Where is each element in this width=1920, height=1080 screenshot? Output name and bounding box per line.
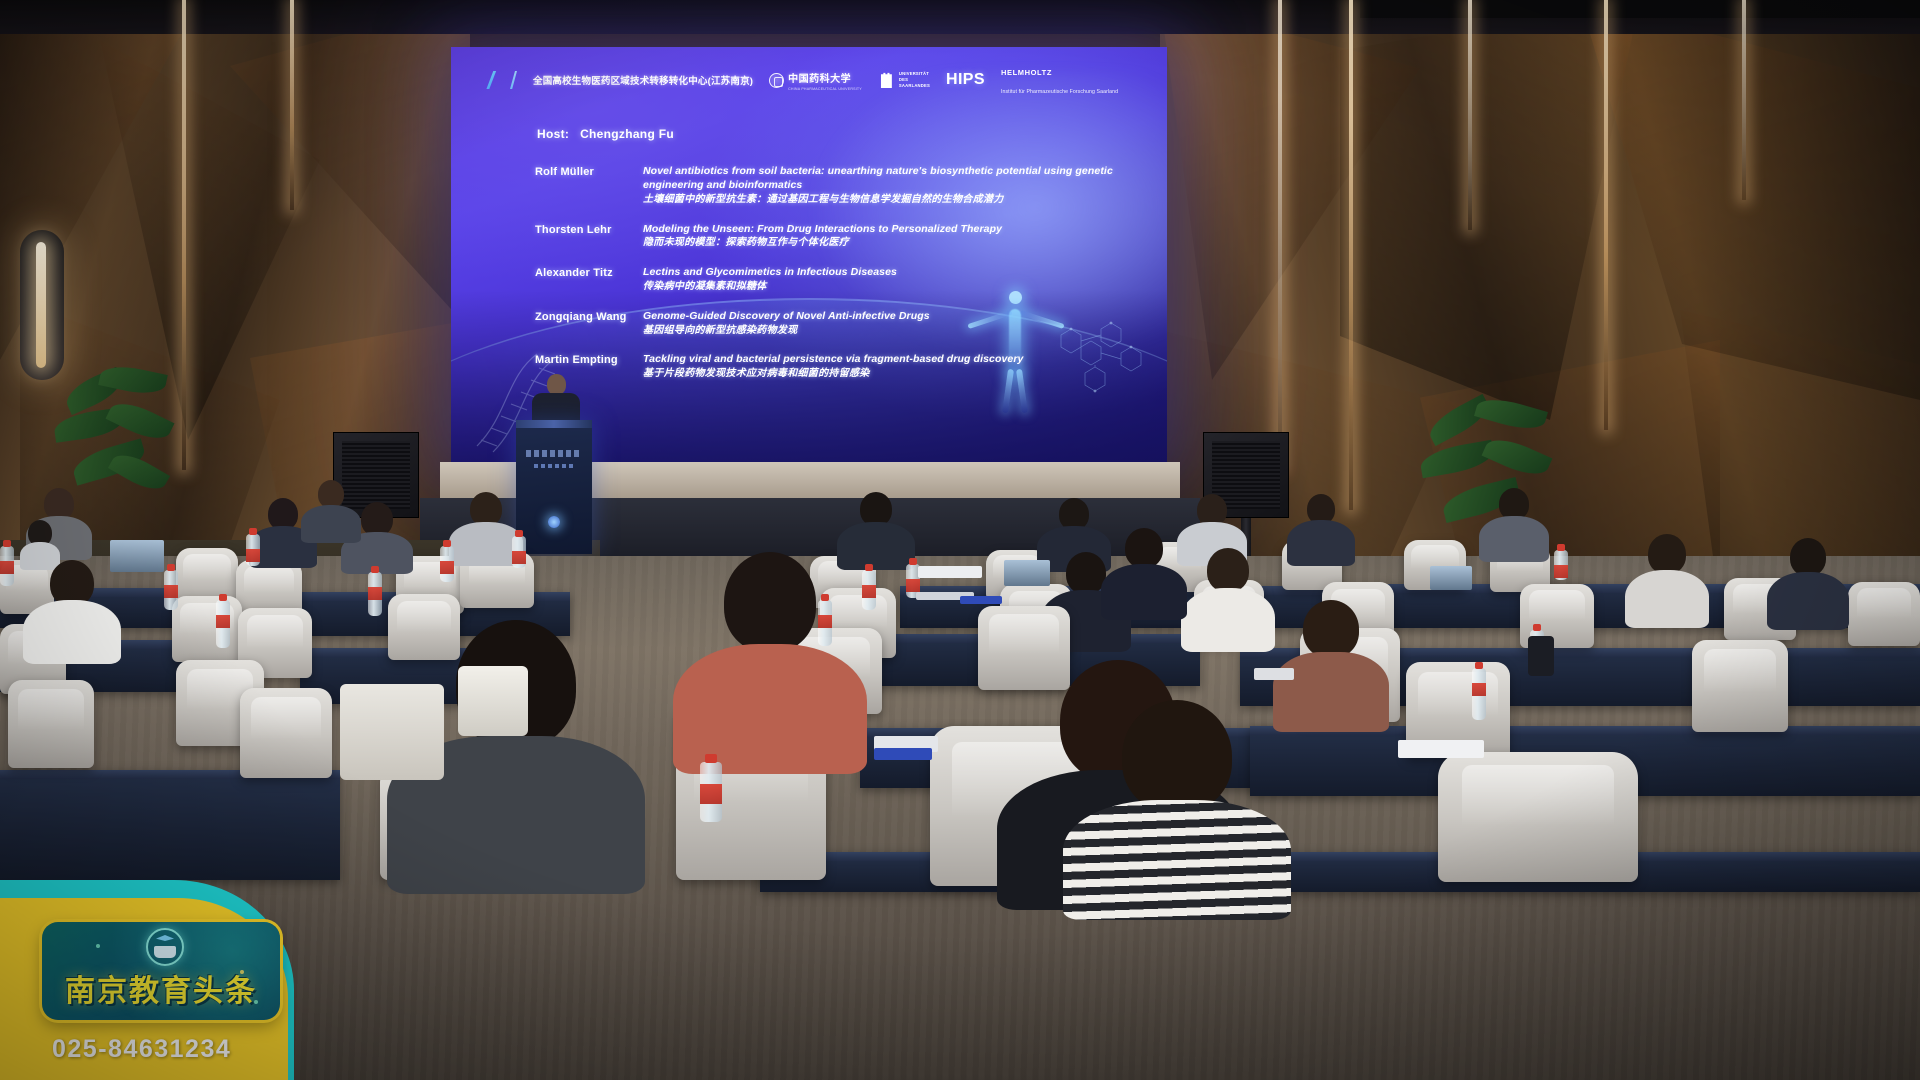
water-bottle — [862, 570, 876, 610]
graduation-book-emblem-icon — [146, 928, 184, 966]
speaker-title-cn: 隐而未现的模型：探索药物互作与个体化医疗 — [643, 236, 1149, 250]
cpu-seal-icon — [769, 73, 784, 88]
document-on-table — [1398, 740, 1484, 758]
water-bottle — [818, 600, 832, 646]
speaker-row: Thorsten Lehr Modeling the Unseen: From … — [535, 223, 1149, 251]
speaker-schedule-list: Rolf Müller Novel antibiotics from soil … — [535, 165, 1149, 397]
audience-chair — [172, 596, 242, 662]
audience-person — [22, 560, 122, 660]
audience-chair — [240, 688, 332, 778]
audience-person — [1624, 534, 1710, 624]
center-logo-icon — [485, 71, 503, 89]
water-bottle — [246, 534, 260, 566]
water-bottle — [1472, 668, 1486, 720]
saarland-crest-icon — [878, 71, 895, 88]
conference-hall-scene: 全国高校生物医药区域技术转移转化中心(江苏南京) 中国药科大学 CHINA PH… — [0, 0, 1920, 1080]
audience-person — [1766, 538, 1850, 626]
speaker-name: Rolf Müller — [535, 165, 643, 207]
document-on-table — [874, 748, 932, 760]
ceiling-right-band — [1360, 0, 1920, 18]
watermark-title: 南京教育头条 — [42, 966, 280, 1010]
presenter-at-podium — [532, 374, 580, 426]
cpu-name-en: CHINA PHARMACEUTICAL UNIVERSITY — [788, 87, 862, 91]
helmholtz-logo: HELMHOLTZ Institut für Pharmazeutische F… — [1001, 62, 1118, 98]
hips-wordmark: HIPS — [946, 71, 985, 89]
speaker-row: Rolf Müller Novel antibiotics from soil … — [535, 165, 1149, 207]
water-bottle — [0, 546, 14, 586]
laptop — [1430, 566, 1472, 590]
tote-bag — [340, 684, 444, 780]
helmholtz-institute-line: Institut für Pharmazeutische Forschung S… — [1001, 89, 1118, 95]
document-on-table — [1254, 668, 1294, 680]
saarland-logo: UNIVERSITÄT DES SAARLANDES — [878, 71, 930, 90]
water-bottle — [164, 570, 178, 610]
audience-person — [1286, 494, 1356, 564]
saarland-line3: SAARLANDES — [899, 83, 930, 88]
speaker-title-en: Modeling the Unseen: From Drug Interacti… — [643, 223, 1149, 237]
screen-logo-row: 全国高校生物医药区域技术转移转化中心(江苏南京) 中国药科大学 CHINA PH… — [485, 65, 1139, 95]
water-bottle — [216, 600, 230, 648]
center-logo-icon-accent — [507, 71, 517, 89]
audience-chair — [1438, 752, 1638, 882]
speaker-title-en: Novel antibiotics from soil bacteria: un… — [643, 165, 1149, 193]
cpu-logo: 中国药科大学 CHINA PHARMACEUTICAL UNIVERSITY — [769, 69, 862, 91]
helmholtz-wordmark: HELMHOLTZ — [1001, 68, 1052, 77]
tote-bag — [458, 666, 528, 736]
neon-strip — [1278, 0, 1282, 470]
neon-strip — [1742, 0, 1746, 200]
channel-watermark: 南京教育头条 025-84631234 — [0, 850, 300, 1080]
water-bottle — [1554, 550, 1568, 580]
watermark-phone-number: 025-84631234 — [52, 1035, 231, 1064]
podium-emblem-icon — [548, 516, 560, 528]
water-bottle — [512, 536, 526, 568]
audience-person — [1180, 548, 1276, 648]
laptop — [1004, 560, 1050, 586]
podium-signage-line1 — [526, 450, 582, 457]
audience-chair — [1848, 582, 1920, 646]
speaker-row: Martin Empting Tackling viral and bacter… — [535, 353, 1149, 381]
audience-person-foreground — [1272, 600, 1390, 724]
speaker-title-en: Genome-Guided Discovery of Novel Anti-in… — [643, 310, 1149, 324]
audience-person — [1478, 488, 1550, 560]
speaker-name: Thorsten Lehr — [535, 223, 643, 251]
laptop — [110, 540, 164, 572]
audience-person-foreground — [1062, 700, 1292, 888]
speaker-name: Zongqiang Wang — [535, 310, 643, 338]
audience-chair — [8, 680, 94, 768]
document-on-table — [918, 566, 982, 578]
speaker-title-en: Lectins and Glycomimetics in Infectious … — [643, 266, 1149, 280]
saarland-line1: UNIVERSITÄT — [899, 71, 929, 76]
host-line: Host: Chengzhang Fu — [537, 127, 674, 141]
speaker-title-cn: 基于片段药物发现技术应对病毒和细菌的持留感染 — [643, 367, 1149, 381]
watermark-card: 南京教育头条 — [42, 922, 280, 1020]
neon-strip — [1604, 0, 1608, 430]
podium-top-edge — [516, 420, 592, 428]
neon-strip — [1349, 0, 1353, 510]
neon-strip — [1468, 0, 1472, 230]
speaker-row: Zongqiang Wang Genome-Guided Discovery o… — [535, 310, 1149, 338]
host-label: Host: — [537, 127, 569, 141]
phone-on-table — [1528, 636, 1554, 676]
audience-person — [1100, 528, 1188, 612]
audience-chair — [1692, 640, 1788, 732]
host-name: Chengzhang Fu — [580, 127, 674, 141]
presenter-head — [547, 374, 566, 395]
speaker-title-cn: 基因组导向的新型抗感染药物发现 — [643, 324, 1149, 338]
lectern-podium — [516, 420, 592, 554]
speaker-name: Alexander Titz — [535, 266, 643, 294]
document-on-table — [960, 596, 1002, 604]
neon-strip — [290, 0, 294, 210]
center-name-label: 全国高校生物医药区域技术转移转化中心(江苏南京) — [533, 73, 753, 87]
saarland-line2: DES — [899, 77, 908, 82]
speaker-row: Alexander Titz Lectins and Glycomimetics… — [535, 266, 1149, 294]
speaker-title-cn: 土壤细菌中的新型抗生素：通过基因工程与生物信息学发掘自然的生物合成潜力 — [643, 193, 1149, 207]
water-bottle — [700, 762, 722, 822]
water-bottle — [368, 572, 382, 616]
water-bottle — [440, 546, 454, 582]
wall-sconce-light — [20, 230, 64, 380]
audience-person — [300, 480, 362, 540]
speaker-title-cn: 传染病中的凝集素和拟糖体 — [643, 280, 1149, 294]
podium-signage-line2 — [534, 464, 574, 468]
cpu-name-cn: 中国药科大学 — [788, 74, 851, 85]
audience-person-foreground — [672, 552, 868, 762]
speaker-title-en: Tackling viral and bacterial persistence… — [643, 353, 1149, 367]
